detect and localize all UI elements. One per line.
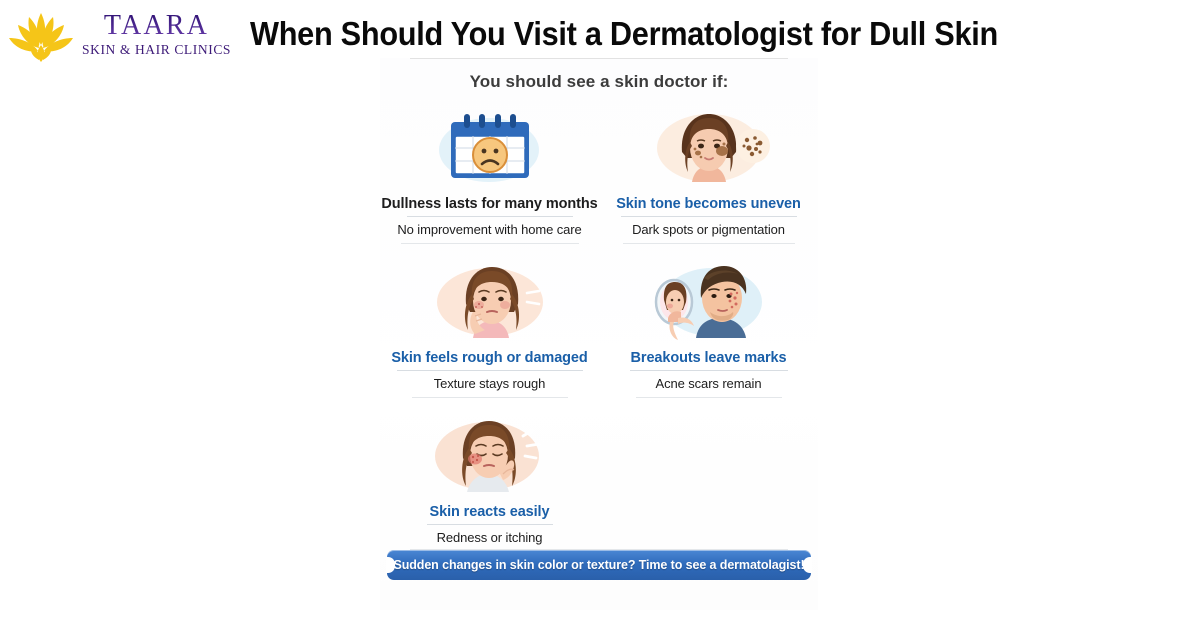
- brand-name: TAARA: [102, 12, 211, 40]
- calendar-sad-face-icon: [415, 106, 565, 188]
- card-subtitle: Texture stays rough: [434, 376, 546, 391]
- title-divider: [630, 370, 788, 371]
- cta-banner-wrap: Sudden changes in skin color or texture?…: [380, 550, 818, 580]
- title-divider: [407, 216, 573, 217]
- card-subtitle: No improvement with home care: [397, 222, 581, 237]
- cards-row: Skin feels rough or damaged Texture stay…: [380, 256, 818, 398]
- card-title: Breakouts leave marks: [631, 350, 787, 366]
- title-divider: [397, 370, 583, 371]
- subtitle-divider: [636, 397, 782, 398]
- card-title: Skin tone becomes uneven: [616, 196, 801, 212]
- card-title: Skin feels rough or damaged: [391, 350, 587, 366]
- ribbon-notch-right: [803, 557, 812, 573]
- card-breakout-marks[interactable]: Breakouts leave marks Acne scars remain: [599, 256, 818, 398]
- title-divider: [621, 216, 797, 217]
- top-divider: [410, 58, 788, 59]
- cards-row: Skin reacts easily Redness or itching: [380, 410, 818, 545]
- subtitle-divider: [412, 397, 568, 398]
- title-divider: [427, 524, 553, 525]
- card-empty-slot: [599, 410, 818, 545]
- woman-touching-rough-cheek-icon: [415, 260, 565, 342]
- card-subtitle: Redness or itching: [437, 530, 543, 545]
- woman-itching-cheek-icon: [415, 414, 565, 496]
- card-subtitle: Dark spots or pigmentation: [632, 222, 785, 237]
- cta-banner[interactable]: Sudden changes in skin color or texture?…: [387, 550, 811, 580]
- cards-grid: Dullness lasts for many months No improv…: [380, 102, 818, 550]
- cards-row: Dullness lasts for many months No improv…: [380, 102, 818, 244]
- infographic-panel: You should see a skin doctor if:: [380, 58, 818, 610]
- subtitle-divider: [401, 243, 579, 244]
- brand-tagline: SKIN & HAIR CLINICS: [82, 43, 231, 57]
- page-title: When Should You Visit a Dermatologist fo…: [250, 15, 998, 53]
- brand-logo[interactable]: TAARA SKIN & HAIR CLINICS: [0, 5, 232, 63]
- infographic-heading: You should see a skin doctor if:: [380, 72, 818, 92]
- card-title: Dullness lasts for many months: [381, 196, 597, 212]
- card-rough-skin[interactable]: Skin feels rough or damaged Texture stay…: [380, 256, 599, 398]
- lotus-icon: [6, 5, 76, 63]
- card-subtitle: Acne scars remain: [656, 376, 762, 391]
- subtitle-divider: [623, 243, 795, 244]
- woman-dark-spots-icon: [634, 106, 784, 188]
- man-mirror-acne-icon: [634, 260, 784, 342]
- card-uneven-tone[interactable]: Skin tone becomes uneven Dark spots or p…: [599, 102, 818, 244]
- card-dullness-duration[interactable]: Dullness lasts for many months No improv…: [380, 102, 599, 244]
- card-title: Skin reacts easily: [430, 504, 550, 520]
- card-sensitive-skin[interactable]: Skin reacts easily Redness or itching: [380, 410, 599, 545]
- cta-banner-text: Sudden changes in skin color or texture?…: [393, 558, 804, 572]
